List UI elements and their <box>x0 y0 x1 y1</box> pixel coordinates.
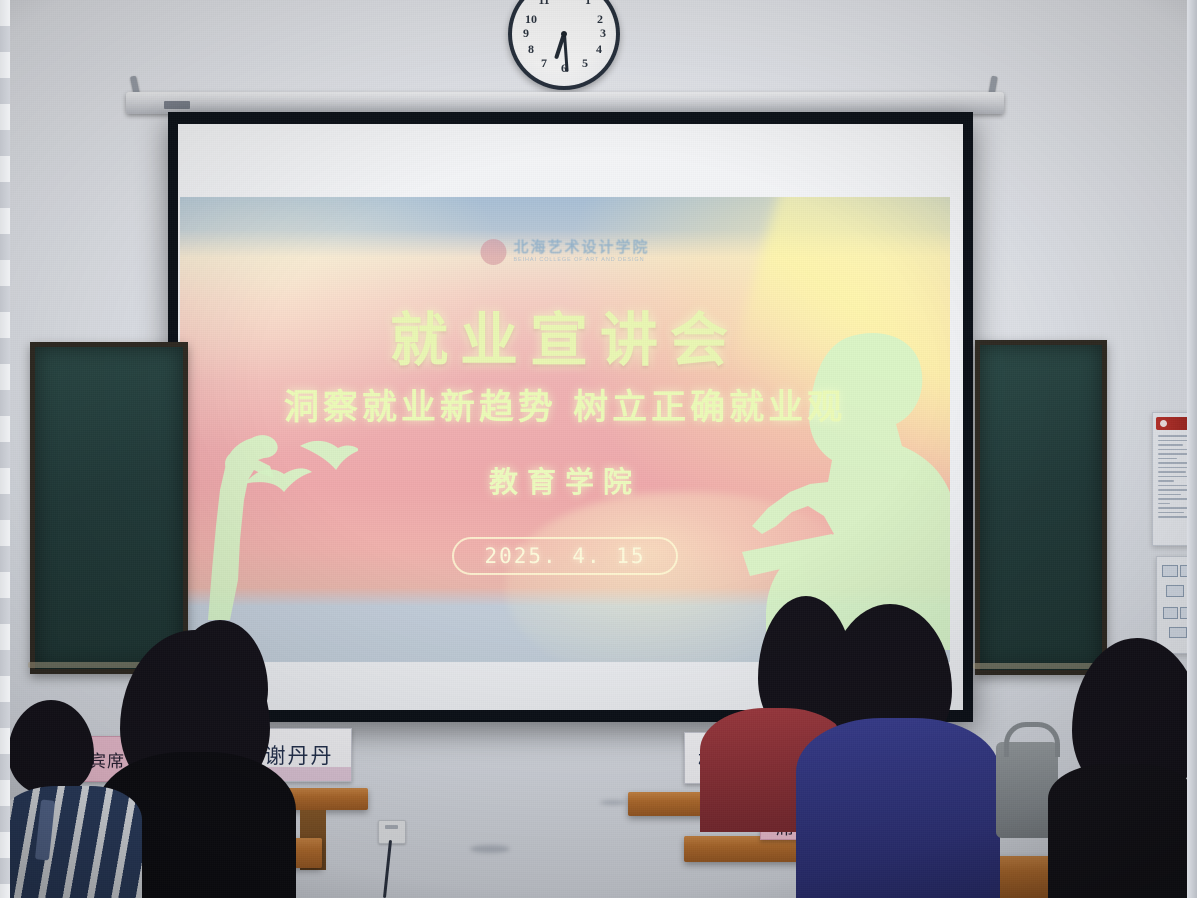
wall-scuff <box>600 800 626 805</box>
clock-numeral: 12 <box>557 0 571 1</box>
clock-numeral: 6 <box>557 61 571 76</box>
attendee-blue-jacket <box>796 718 1000 898</box>
slide-title: 就业宣讲会 <box>180 293 950 377</box>
slide-subtitle: 洞察就业新趋势 树立正确就业观 <box>180 379 950 430</box>
clock-numeral: 11 <box>537 0 551 8</box>
clock-numeral: 7 <box>537 56 551 71</box>
clock-numeral: 2 <box>593 12 607 27</box>
power-outlet[interactable] <box>378 820 406 844</box>
screen-roller-housing[interactable] <box>126 92 1004 114</box>
logo-name-en: BEIHAI COLLEGE OF ART AND DESIGN <box>513 258 649 264</box>
clock-center-pin <box>561 31 567 37</box>
clock-numeral: 9 <box>519 26 533 41</box>
poster-logo-icon <box>1160 420 1167 427</box>
clock-numeral: 8 <box>524 42 538 57</box>
attendee-striped-shirt <box>0 786 142 898</box>
clock-numeral: 1 <box>581 0 595 8</box>
attendee-far-right <box>1048 764 1197 898</box>
chalk-tray-right <box>973 663 1101 669</box>
logo-name-cn: 北海艺术设计学院 <box>513 240 649 255</box>
logo-mark-icon <box>480 239 506 265</box>
wall-scuff <box>470 845 510 853</box>
placard-text: 谢丹丹 <box>265 740 334 770</box>
blackboard-right <box>975 340 1107 675</box>
projected-slide: 北海艺术设计学院 BEIHAI COLLEGE OF ART AND DESIG… <box>180 197 950 662</box>
clock-numeral: 3 <box>596 26 610 41</box>
clock-numeral: 5 <box>578 56 592 71</box>
slide-date-container: 2025. 4. 15 <box>180 537 950 575</box>
photo-edge-left <box>0 0 10 898</box>
roller-label <box>164 101 190 109</box>
blackboard-left <box>30 342 188 674</box>
clock-numeral: 10 <box>524 12 538 27</box>
slide-organization: 教育学院 <box>180 459 950 501</box>
clock-numeral: 4 <box>592 42 606 57</box>
handbag-strap <box>1004 722 1060 757</box>
slide-institution-logo: 北海艺术设计学院 BEIHAI COLLEGE OF ART AND DESIG… <box>480 239 649 265</box>
photo-edge-right <box>1187 0 1197 898</box>
screenshot-root: 12 1 2 3 4 5 6 7 8 9 10 11 <box>0 0 1197 898</box>
slide-date-badge: 2025. 4. 15 <box>452 537 677 575</box>
